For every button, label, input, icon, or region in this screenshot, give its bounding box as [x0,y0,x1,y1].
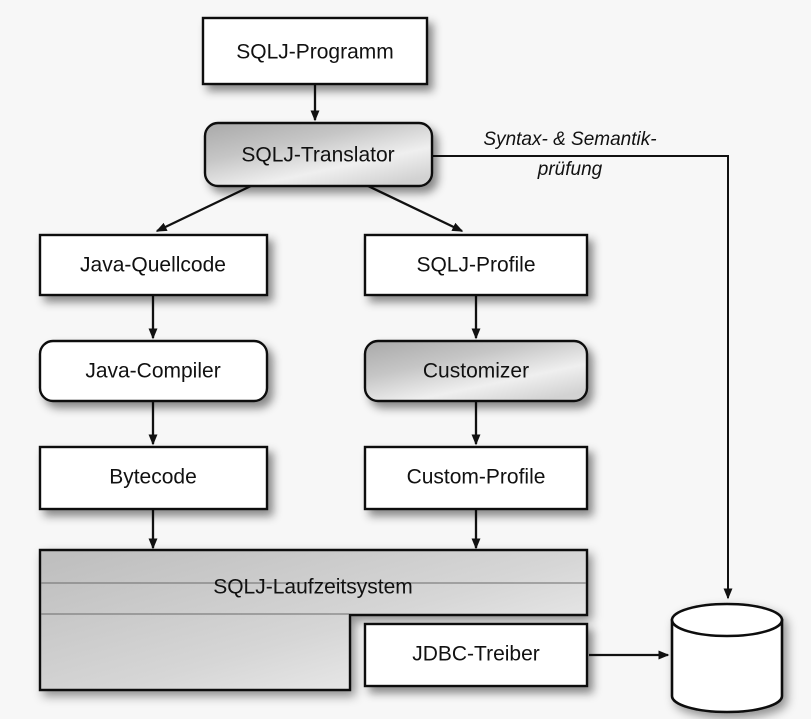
node-bytecode-label: Bytecode [109,466,197,489]
node-jdbc-treiber-label: JDBC-Treiber [412,643,540,666]
node-sqlj-translator-label: SQLJ-Translator [241,144,394,167]
annotation-line-1: Syntax- & Semantik- [483,129,656,150]
sqlj-architecture-diagram: SQLJ-Programm SQLJ-Translator Java-Quell… [0,0,811,719]
node-custom-profile-label: Custom-Profile [407,466,546,489]
node-java-quellcode-label: Java-Quellcode [80,254,226,277]
node-sqlj-programm-label: SQLJ-Programm [236,41,394,64]
node-jdbc-treiber[interactable]: JDBC-Treiber [365,624,587,686]
node-java-quellcode[interactable]: Java-Quellcode [40,235,267,295]
annotation-line-2: prüfung [537,159,603,180]
node-bytecode[interactable]: Bytecode [40,447,267,509]
node-custom-profile[interactable]: Custom-Profile [365,447,587,509]
diagram-canvas: SQLJ-Programm SQLJ-Translator Java-Quell… [0,0,811,719]
edge-translator-to-quellcode [157,185,253,231]
node-customizer-label: Customizer [423,360,529,383]
edge-translator-to-profile [366,185,462,231]
database-cylinder-top [672,604,782,636]
node-java-compiler[interactable]: Java-Compiler [40,341,267,401]
node-sqlj-profile[interactable]: SQLJ-Profile [365,235,587,295]
node-sqlj-translator[interactable]: SQLJ-Translator [205,123,432,186]
node-sqlj-profile-label: SQLJ-Profile [416,254,535,277]
node-sqlj-programm[interactable]: SQLJ-Programm [203,18,427,84]
node-customizer[interactable]: Customizer [365,341,587,401]
node-java-compiler-label: Java-Compiler [85,360,220,383]
annotation-syntax-check: Syntax- & Semantik- prüfung [483,129,656,180]
node-sqlj-laufzeitsystem-label: SQLJ-Laufzeitsystem [213,576,413,599]
node-datenbank[interactable] [672,604,782,712]
